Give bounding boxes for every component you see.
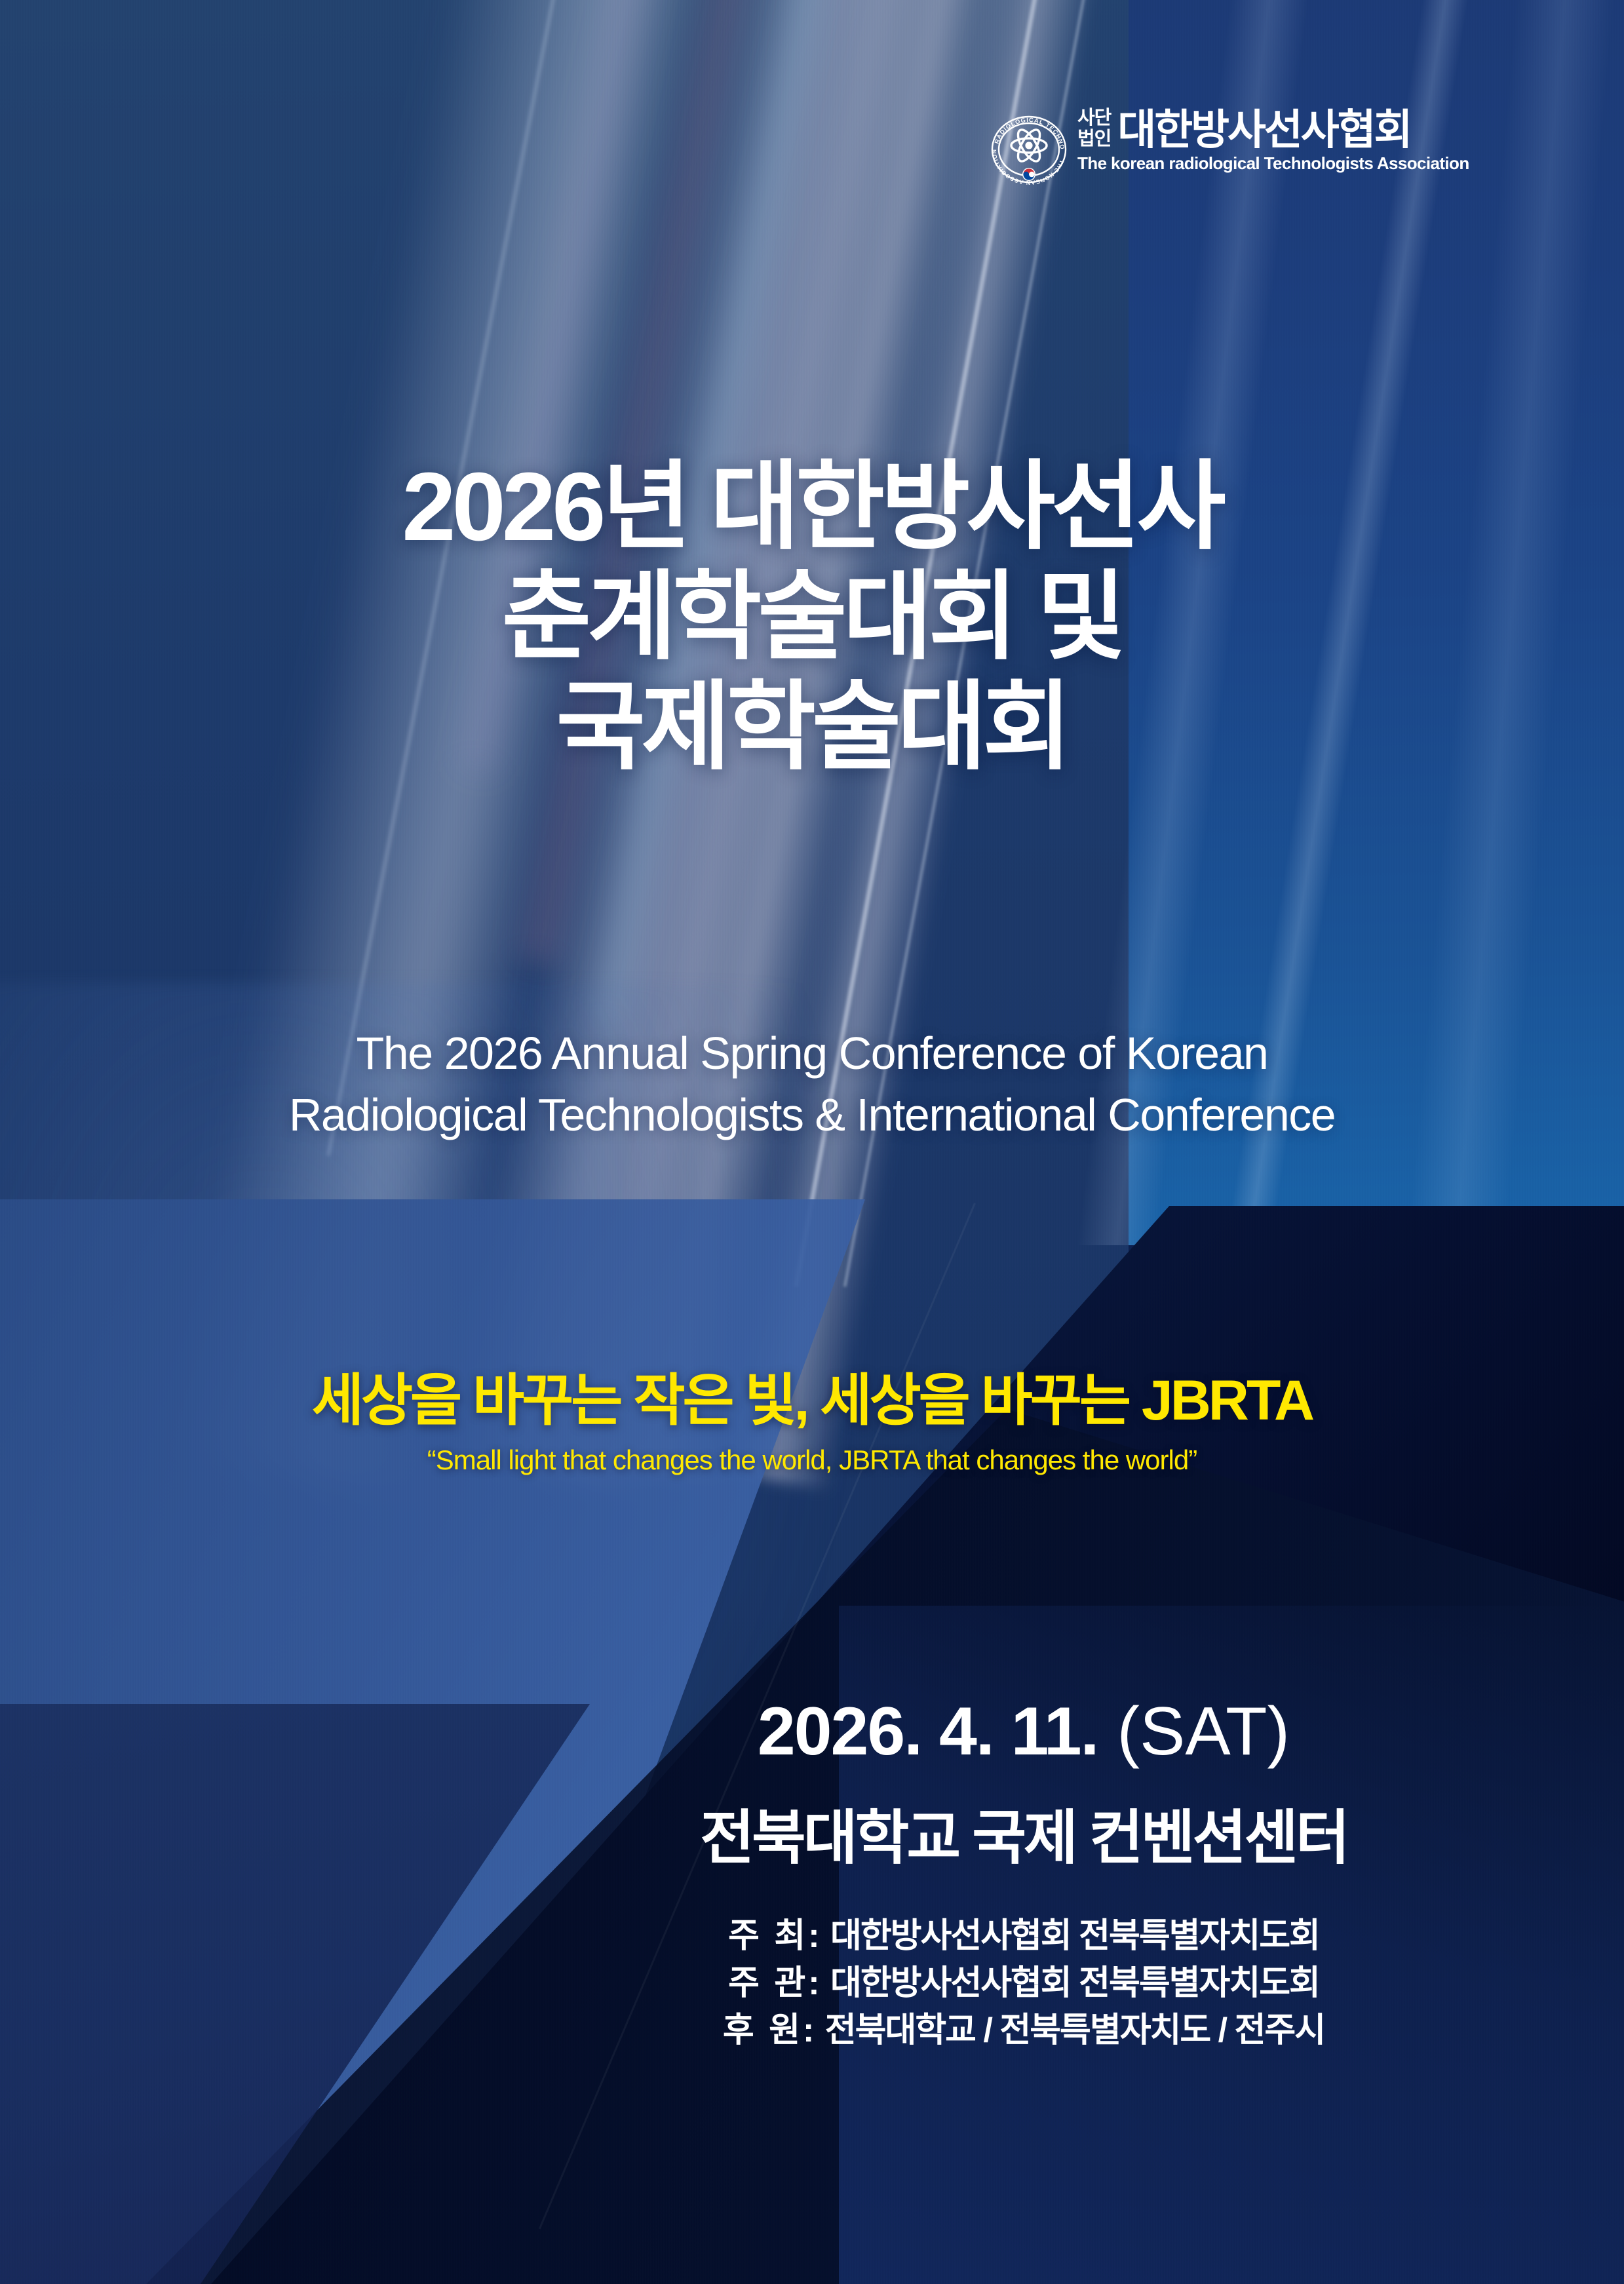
credit-sponsor-value: 전북대학교 / 전북특별자치도 / 전주시: [817, 2011, 1324, 2049]
logo-english-name: The korean radiological Technologists As…: [1077, 153, 1469, 173]
credit-host-key: 주 최:: [728, 1917, 822, 1955]
event-date-main: 2026. 4. 11.: [758, 1694, 1098, 1770]
event-date: 2026. 4. 11. (SAT): [532, 1691, 1515, 1772]
association-logo: RADIOLOGICAL TECHNOLOGISTS THE KOREAN AS…: [990, 105, 1566, 210]
page-title: 2026년 대한방사선사 춘계학술대회 및 국제학술대회: [0, 452, 1624, 783]
credit-sponsor-key: 후 원:: [723, 2011, 817, 2049]
logo-corporate-prefix: 사단 법인: [1077, 107, 1111, 151]
title-line-3: 국제학술대회: [0, 672, 1624, 783]
title-line-1: 2026년 대한방사선사: [0, 452, 1624, 562]
credit-organizer-value: 대한방사선사협회 전북특별자치도회: [822, 1964, 1319, 2002]
event-venue: 전북대학교 국제 컨벤션센터: [532, 1800, 1515, 1877]
credit-organizer-key: 주 관:: [728, 1964, 822, 2002]
title-line-2: 춘계학술대회 및: [0, 562, 1624, 672]
emblem-ring-bottom-text: THE KOREAN ASSOCIATION: [991, 149, 1065, 186]
logo-korean-name: 대한방사선사협회: [1117, 109, 1410, 151]
event-details: 2026. 4. 11. (SAT) 전북대학교 국제 컨벤션센터 주 최: 대…: [532, 1691, 1515, 2054]
english-subtitle: The 2026 Annual Spring Conference of Kor…: [0, 1022, 1624, 1146]
slogan-english: “Small light that changes the world, JBR…: [0, 1441, 1624, 1479]
atom-emblem-icon: RADIOLOGICAL TECHNOLOGISTS THE KOREAN AS…: [990, 110, 1068, 189]
credit-host: 주 최: 대한방사선사협회 전북특별자치도회: [532, 1912, 1515, 1960]
svg-text:THE KOREAN ASSOCIATION: THE KOREAN ASSOCIATION: [991, 149, 1065, 186]
logo-wordmark: 사단 법인 대한방사선사협회 The korean radiological T…: [1077, 105, 1469, 173]
event-date-weekday: (SAT): [1098, 1694, 1290, 1770]
credit-sponsor: 후 원: 전북대학교 / 전북특별자치도 / 전주시: [532, 2007, 1515, 2054]
subtitle-line-1: The 2026 Annual Spring Conference of Kor…: [0, 1022, 1624, 1084]
conference-poster: RADIOLOGICAL TECHNOLOGISTS THE KOREAN AS…: [0, 0, 1624, 2284]
slogan: 세상을 바꾸는 작은 빛, 세상을 바꾸는 JBRTA “Small light…: [0, 1366, 1624, 1479]
credit-host-value: 대한방사선사협회 전북특별자치도회: [822, 1917, 1319, 1955]
slogan-korean: 세상을 바꾸는 작은 빛, 세상을 바꾸는 JBRTA: [0, 1366, 1624, 1435]
subtitle-line-2: Radiological Technologists & Internation…: [0, 1084, 1624, 1146]
credits-list: 주 최: 대한방사선사협회 전북특별자치도회 주 관: 대한방사선사협회 전북특…: [532, 1912, 1515, 2054]
credit-organizer: 주 관: 대한방사선사협회 전북특별자치도회: [532, 1960, 1515, 2007]
